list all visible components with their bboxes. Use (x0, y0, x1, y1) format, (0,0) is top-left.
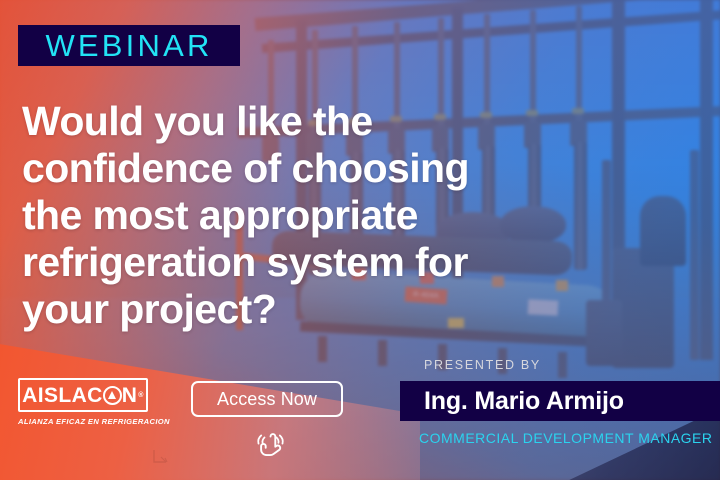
logo-text-last: N (122, 385, 138, 406)
headline-line-3: the most appropriate (22, 192, 582, 239)
tapping-hand-icon (252, 428, 292, 468)
headline-line-2: confidence of choosing (22, 145, 582, 192)
headline-line-1: Would you like the (22, 98, 582, 145)
aislacon-logo: AISLAC N ® ALIANZA EFICAZ EN REFRIGERACI… (18, 378, 148, 426)
logo-wordmark: AISLAC N ® (22, 385, 144, 406)
webinar-promo-banner: R-404A WEBINAR Would you like the confid… (0, 0, 720, 480)
logo-frame: AISLAC N ® (18, 378, 148, 412)
presenter-name: Ing. Mario Armijo (424, 389, 624, 414)
presenter-role: COMMERCIAL DEVELOPMENT MANAGER (419, 430, 713, 446)
logo-text-first: AISLAC (22, 385, 103, 406)
access-now-button[interactable]: Access Now (191, 381, 343, 417)
webinar-badge-label: WEBINAR (45, 30, 212, 61)
circle-triangle-logo-icon (103, 386, 122, 405)
logo-tagline: ALIANZA EFICAZ EN REFRIGERACION (18, 417, 148, 426)
watermark-artifact (152, 448, 174, 466)
presented-by-label: PRESENTED BY (424, 358, 541, 372)
page-title: Would you like the confidence of choosin… (22, 98, 582, 333)
presenter-name-bar: Ing. Mario Armijo (400, 381, 720, 421)
access-now-label: Access Now (217, 390, 317, 408)
registered-trademark-icon: ® (138, 392, 144, 399)
headline-line-4: refrigeration system for (22, 239, 582, 286)
webinar-badge: WEBINAR (18, 25, 240, 66)
headline-line-5: your project? (22, 286, 582, 333)
